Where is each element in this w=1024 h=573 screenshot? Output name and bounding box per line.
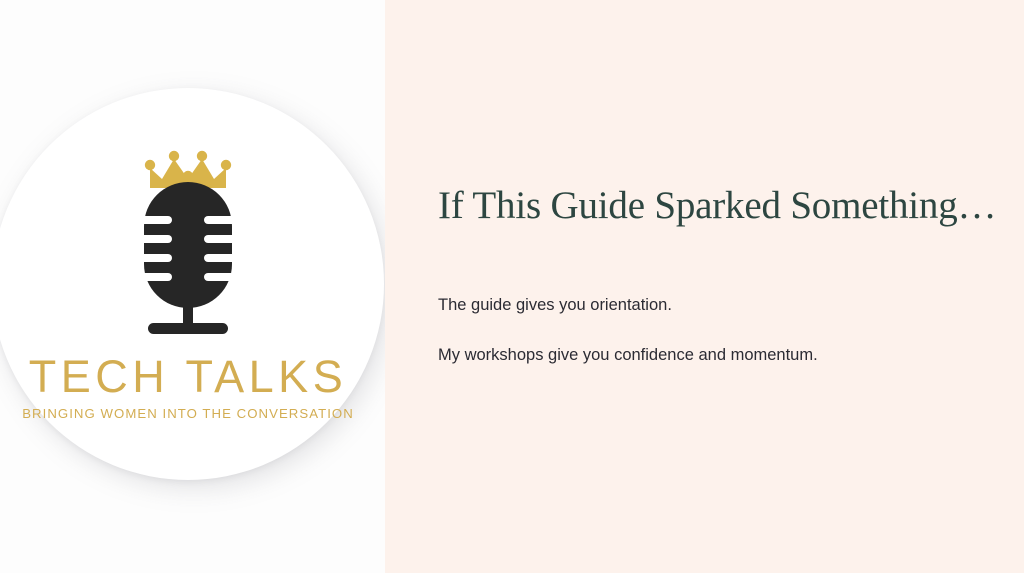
page-title: If This Guide Sparked Something… (438, 183, 994, 230)
slide-root: TECH TALKS BRINGING WOMEN INTO THE CONVE… (0, 0, 1024, 573)
logo-circle-card: TECH TALKS BRINGING WOMEN INTO THE CONVE… (0, 88, 384, 480)
body-line-2: My workshops give you confidence and mom… (438, 344, 994, 368)
content-block: If This Guide Sparked Something… The gui… (438, 183, 994, 368)
left-logo-panel: TECH TALKS BRINGING WOMEN INTO THE CONVE… (0, 0, 385, 573)
microphone-icon (128, 148, 248, 348)
body-line-1: The guide gives you orientation. (438, 294, 994, 318)
microphone-stand (148, 304, 228, 334)
logo-content: TECH TALKS BRINGING WOMEN INTO THE CONVE… (0, 88, 384, 480)
body-paragraphs: The guide gives you orientation. My work… (438, 294, 994, 368)
microphone-capsule (138, 182, 238, 308)
right-content-panel: If This Guide Sparked Something… The gui… (385, 0, 1024, 573)
logo-wordmark: TECH TALKS (29, 354, 347, 399)
logo-tagline: BRINGING WOMEN INTO THE CONVERSATION (22, 406, 354, 421)
